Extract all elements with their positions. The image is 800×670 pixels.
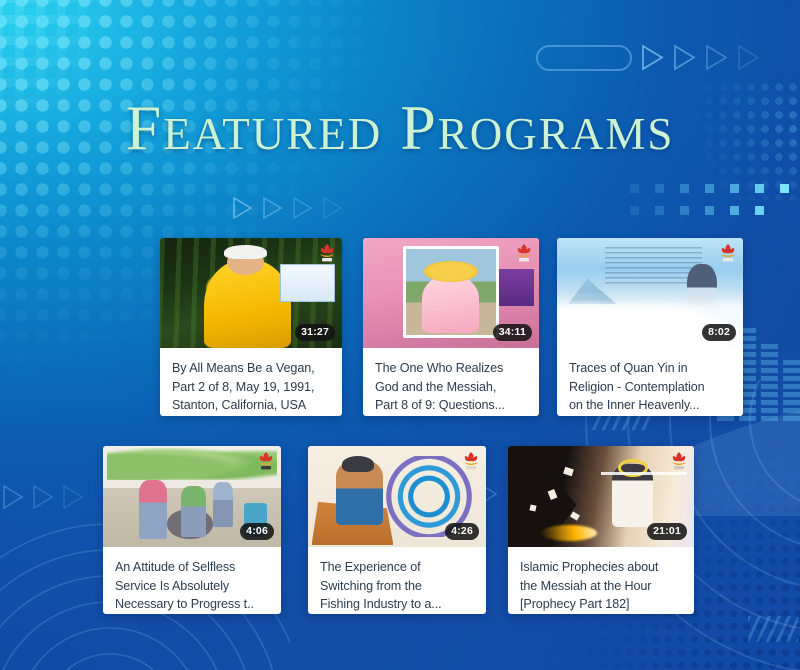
- equalizer-bar: [761, 344, 778, 421]
- play-triangle-outline: [737, 44, 760, 71]
- duration-badge: 4:06: [240, 523, 274, 540]
- play-triangle-outline: [673, 44, 696, 71]
- program-thumbnail[interactable]: 4:26: [308, 446, 486, 547]
- decor-square: [630, 206, 639, 215]
- decor-square: [630, 184, 639, 193]
- decor-squares-row-1: [630, 184, 789, 193]
- decor-square: [655, 184, 664, 193]
- program-thumbnail[interactable]: 21:01: [508, 446, 694, 547]
- duration-badge: 31:27: [295, 324, 335, 341]
- decor-square: [730, 206, 739, 215]
- decor-square: [655, 206, 664, 215]
- program-thumbnail[interactable]: 4:06: [103, 446, 281, 547]
- lotus-logo-icon: [718, 241, 738, 263]
- lotus-logo-icon: [514, 241, 534, 263]
- play-triangle-outline: [262, 196, 285, 223]
- play-triangle-outline: [2, 484, 25, 511]
- equalizer-bar: [783, 360, 800, 421]
- decor-square: [705, 206, 714, 215]
- decor-square: [705, 184, 714, 193]
- program-card[interactable]: 4:26 The Experience of Switching from th…: [308, 446, 486, 614]
- play-triangle-outline: [705, 44, 728, 71]
- program-card[interactable]: 34:11 The One Who Realizes God and the M…: [363, 238, 539, 416]
- featured-programs-banner: Featured Programs 31:27 By: [0, 0, 800, 670]
- play-triangle-outline: [62, 484, 85, 511]
- decor-square: [755, 184, 764, 193]
- program-card[interactable]: 4:06 An Attitude of Selfless Service Is …: [103, 446, 281, 614]
- program-title: Islamic Prophecies about the Messiah at …: [508, 547, 694, 614]
- program-title: By All Means Be a Vegan, Part 2 of 8, Ma…: [160, 348, 342, 416]
- decor-square: [680, 184, 689, 193]
- play-triangle-outline: [232, 196, 255, 223]
- lotus-logo-icon: [461, 449, 481, 471]
- play-triangle-outline: [292, 196, 315, 223]
- lotus-logo-icon: [256, 449, 276, 471]
- duration-badge: 34:11: [493, 324, 532, 341]
- program-thumbnail[interactable]: 34:11: [363, 238, 539, 348]
- decor-triangles-mid-left: [232, 196, 345, 223]
- duration-badge: 8:02: [702, 324, 736, 341]
- program-card[interactable]: 21:01 Islamic Prophecies about the Messi…: [508, 446, 694, 614]
- play-triangle-outline: [322, 196, 345, 223]
- program-card[interactable]: 8:02 Traces of Quan Yin in Religion - Co…: [557, 238, 743, 416]
- decor-square: [730, 184, 739, 193]
- lotus-logo-icon: [669, 449, 689, 471]
- program-thumbnail[interactable]: 8:02: [557, 238, 743, 348]
- decor-square: [680, 206, 689, 215]
- play-triangle-outline: [641, 44, 664, 71]
- decor-squares-row-2: [630, 206, 764, 215]
- program-thumbnail[interactable]: 31:27: [160, 238, 342, 348]
- page-title: Featured Programs: [0, 96, 800, 160]
- duration-badge: 4:26: [445, 523, 479, 540]
- decor-square: [755, 206, 764, 215]
- decor-square: [780, 184, 789, 193]
- program-card[interactable]: 31:27 By All Means Be a Vegan, Part 2 of…: [160, 238, 342, 416]
- program-title: The One Who Realizes God and the Messiah…: [363, 348, 539, 416]
- rounded-pill-outline: [536, 45, 632, 71]
- decor-triangles-bottom-left: [2, 484, 85, 511]
- duration-badge: 21:01: [647, 523, 687, 540]
- program-title: An Attitude of Selfless Service Is Absol…: [103, 547, 281, 614]
- lotus-logo-icon: [317, 241, 337, 263]
- play-triangle-outline: [32, 484, 55, 511]
- program-title: Traces of Quan Yin in Religion - Contemp…: [557, 348, 743, 416]
- decor-pill-and-triangles-top-right: [536, 44, 760, 71]
- program-title: The Experience of Switching from the Fis…: [308, 547, 486, 614]
- diagonal-stripes-decor-2: [748, 616, 798, 642]
